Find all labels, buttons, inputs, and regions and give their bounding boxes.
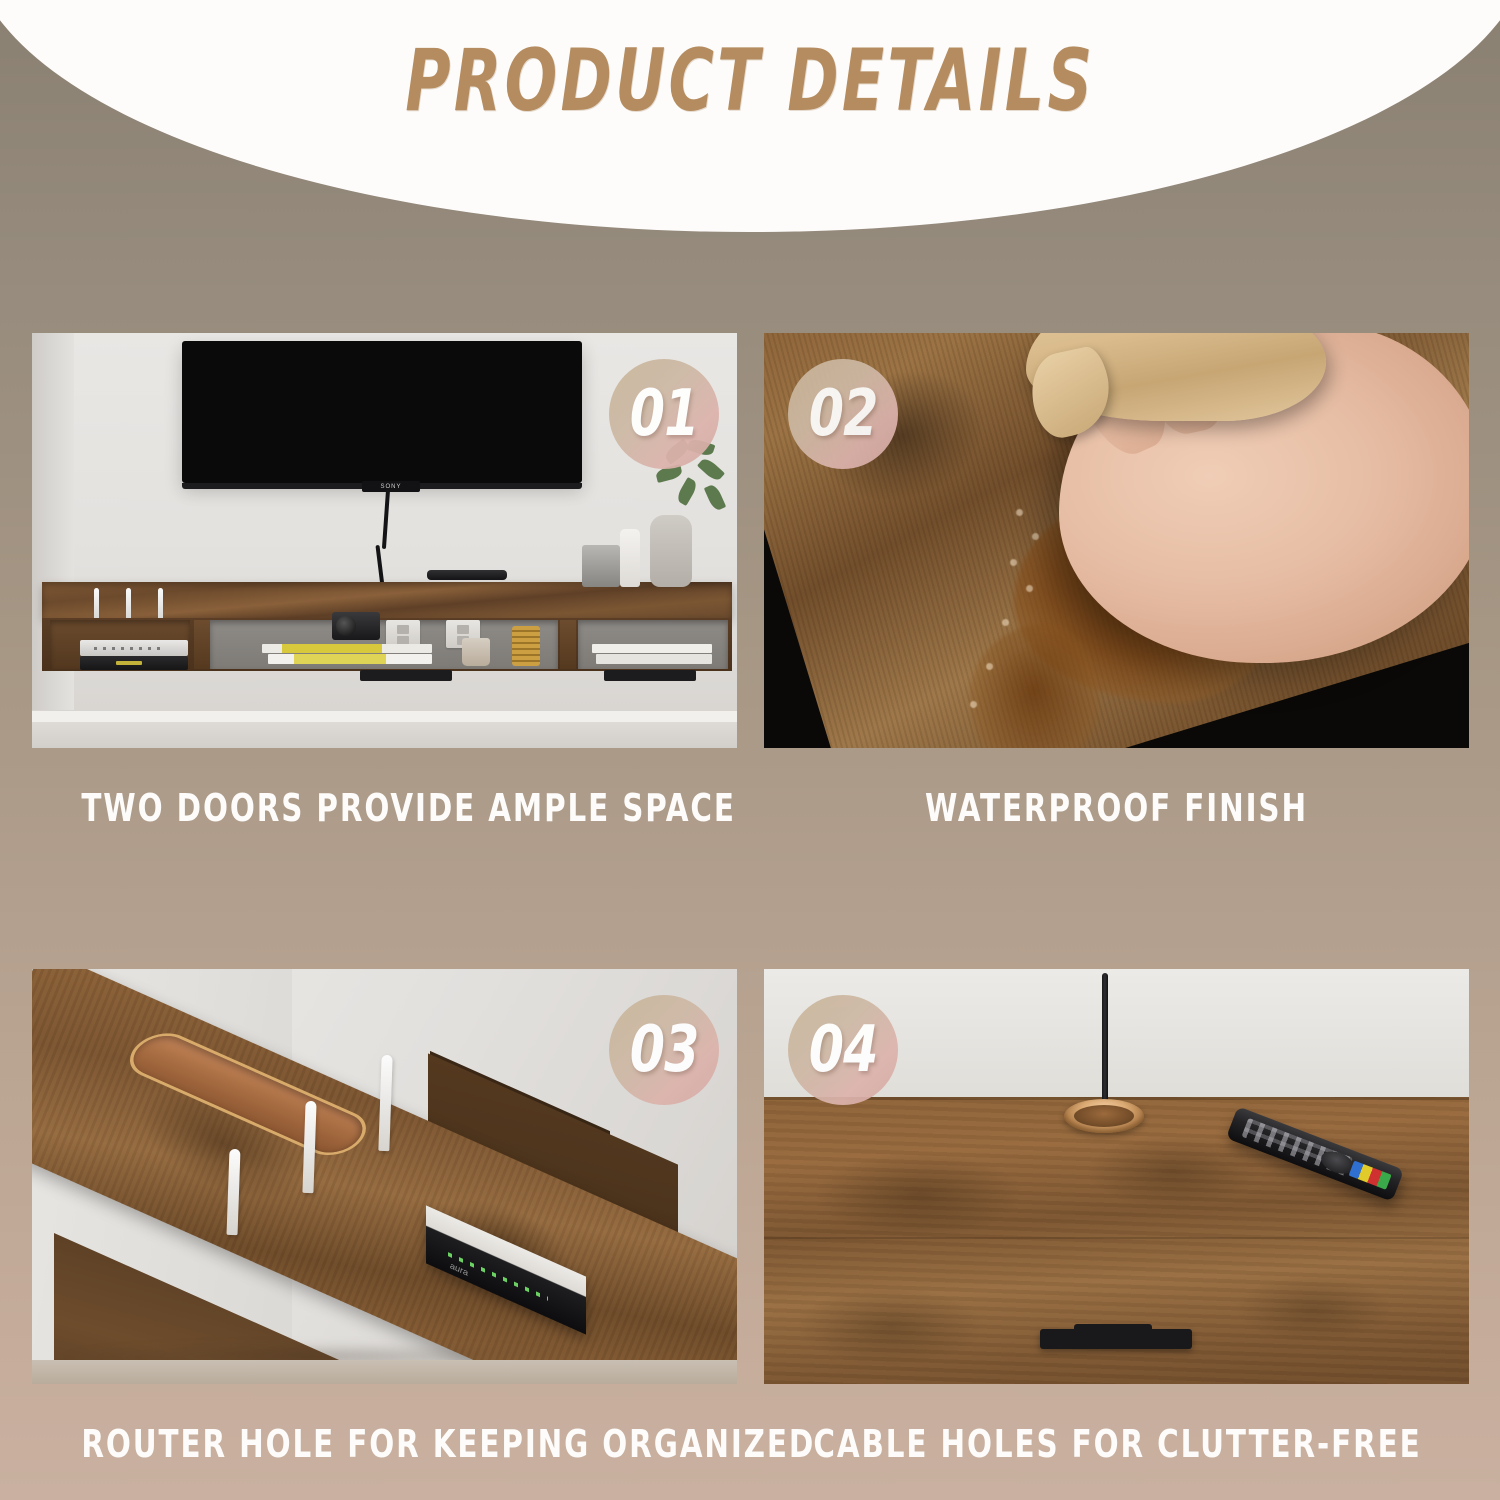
feature-caption-01: TWO DOORS PROVIDE AMPLE SPACE <box>81 786 687 830</box>
feature-image-01: SONY <box>32 333 737 748</box>
decor-gold-coil <box>512 626 540 666</box>
feature-card-03[interactable]: aura 03 ROUTER HOLE FOR KEEPING ORGANIZE… <box>32 969 737 1466</box>
feature-badge-number-03: 03 <box>630 1013 699 1087</box>
feature-image-02: 02 <box>764 333 1469 748</box>
floor <box>32 722 737 748</box>
feature-badge-number-02: 02 <box>809 377 878 451</box>
feature-caption-04: CABLE HOLES FOR CLUTTER-FREE <box>813 1422 1419 1466</box>
router-antenna-2 <box>126 588 131 618</box>
feature-row-2: aura 03 ROUTER HOLE FOR KEEPING ORGANIZE… <box>32 969 1469 1466</box>
tv-power-cable-lower <box>375 545 384 587</box>
remote-color-buttons <box>1349 1161 1392 1190</box>
feature-caption-03: ROUTER HOLE FOR KEEPING ORGANIZED <box>81 1422 687 1466</box>
door-handle-left <box>360 670 452 681</box>
feature-card-02[interactable]: 02 WATERPROOF FINISH <box>764 333 1469 830</box>
tv-screen <box>182 341 582 483</box>
feature-card-01[interactable]: SONY <box>32 333 737 830</box>
door-handle <box>1040 1329 1192 1349</box>
decor-vase-small <box>620 529 640 587</box>
network-device-black <box>80 656 188 670</box>
floor <box>32 1360 737 1384</box>
feature-badge-04: 04 <box>788 995 898 1105</box>
page-title-text: PRODUCT DETAILS <box>405 31 1095 131</box>
decor-tin <box>582 545 620 587</box>
feature-image-04: 04 <box>764 969 1469 1384</box>
tv-brand-text: SONY <box>380 484 401 490</box>
shelf-divider-right <box>560 620 576 669</box>
door-handle-right <box>604 670 696 681</box>
feature-badge-number-04: 04 <box>809 1013 878 1087</box>
tv-power-cable <box>382 489 390 549</box>
remote-control <box>427 570 507 580</box>
feature-image-03: aura 03 <box>32 969 737 1384</box>
decor-jar <box>462 638 490 666</box>
baseboard <box>32 710 737 722</box>
page-title: PRODUCT DETAILS <box>0 0 1500 232</box>
book-stack-middle <box>262 644 432 666</box>
feature-caption-02: WATERPROOF FINISH <box>813 786 1419 830</box>
shelf-top-surface <box>42 582 732 618</box>
book-stack-right <box>592 644 712 666</box>
feature-card-04[interactable]: 04 CABLE HOLES FOR CLUTTER-FREE <box>764 969 1469 1466</box>
wood-seam-lower <box>764 1237 1469 1239</box>
decor-vase-large <box>650 515 692 587</box>
router-antenna-1 <box>94 588 99 618</box>
feature-badge-03: 03 <box>609 995 719 1105</box>
shelf-divider-left <box>194 620 210 669</box>
feature-badge-number-01: 01 <box>630 377 699 451</box>
router-antenna-3 <box>158 588 163 618</box>
floating-shelf <box>42 582 732 671</box>
network-device-white <box>80 640 188 656</box>
wall-left <box>32 333 74 748</box>
feature-badge-01: 01 <box>609 359 719 469</box>
header-banner: PRODUCT DETAILS <box>0 0 1500 232</box>
tv-brand-logo: SONY <box>362 481 420 492</box>
camera-device <box>332 612 380 640</box>
feature-row-1: SONY <box>32 333 1469 830</box>
cable-hole-opening <box>1074 1105 1134 1127</box>
feature-badge-02: 02 <box>788 359 898 469</box>
feature-grid: SONY <box>32 333 1469 1466</box>
power-cable <box>1102 973 1108 1113</box>
